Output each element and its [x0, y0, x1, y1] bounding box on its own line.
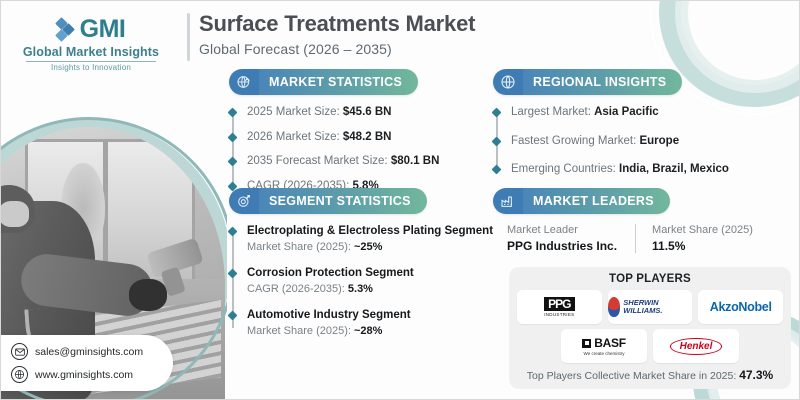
region-label: Largest Market: [511, 106, 594, 118]
section-market-statistics: MARKET STATISTICS 2025 Market Size: $45.… [229, 69, 439, 194]
stat-value: $80.1 BN [391, 155, 440, 167]
segment-metric-value: 5.3% [348, 283, 373, 295]
player-logo-sherwin-williams[interactable]: SHERWIN WILLIAMS. [608, 290, 693, 324]
logo-tagline: Insights to Innovation [15, 63, 167, 72]
bullet-icon [491, 108, 501, 118]
bullet-icon [227, 157, 237, 167]
list-item: Emerging Countries: India, Brazil, Mexic… [511, 162, 729, 178]
contact-website-row[interactable]: www.gminsights.com [11, 366, 173, 383]
segment-title: Automotive Industry Segment [247, 308, 493, 323]
contact-website: www.gminsights.com [35, 369, 133, 381]
page-title: Surface Treatments Market [199, 11, 475, 37]
bullet-icon [227, 108, 237, 118]
logo-company-name: Global Market Insights [15, 45, 167, 59]
sherwin-williams-logo-name: SHERWIN WILLIAMS. [623, 299, 692, 315]
bullet-icon [491, 136, 501, 146]
envelope-icon [11, 343, 28, 360]
regional-insights-list: Largest Market: Asia Pacific Fastest Gro… [493, 105, 729, 178]
regional-insights-heading: REGIONAL INSIGHTS [523, 69, 682, 95]
list-item: 2025 Market Size: $45.6 BN [247, 105, 439, 121]
market-leader-label: Market Leader [507, 224, 617, 236]
contact-footer: sales@gminsights.com www.gminsights.com [1, 335, 173, 391]
market-share-value: 11.5% [652, 239, 753, 253]
bullet-icon [227, 310, 237, 320]
list-item: 2035 Forecast Market Size: $80.1 BN [247, 154, 439, 170]
region-value: Asia Pacific [594, 106, 659, 118]
region-value: India, Brazil, Mexico [619, 163, 729, 175]
top-players-title: TOP PLAYERS [517, 273, 783, 285]
region-value: Europe [639, 135, 679, 147]
market-leader-value: PPG Industries Inc. [507, 239, 617, 253]
bullet-icon [227, 268, 237, 278]
list-item: Corrosion Protection Segment CAGR (2026-… [247, 266, 493, 295]
stat-label: 2035 Forecast Market Size: [247, 155, 391, 167]
section-market-leaders: MARKET LEADERS Market Leader PPG Industr… [493, 188, 771, 253]
bullet-icon [227, 132, 237, 142]
gmi-logo[interactable]: GMI Global Market Insights Insights to I… [15, 15, 167, 72]
photo-worker-mask [1, 201, 29, 227]
segment-title: Corrosion Protection Segment [247, 266, 493, 281]
bullet-icon [491, 165, 501, 175]
market-share-column: Market Share (2025) 11.5% [635, 224, 771, 253]
segment-metric-label: Market Share (2025): [247, 241, 354, 253]
logo-divider [26, 61, 156, 62]
collective-share-value: 47.3% [739, 368, 773, 382]
market-leaders-heading: MARKET LEADERS [523, 188, 670, 214]
segment-statistics-list: Electroplating & Electroless Plating Seg… [229, 224, 493, 337]
basf-square-icon [582, 339, 591, 348]
sherwin-williams-paint-icon [608, 297, 621, 317]
diamond-icon [57, 17, 77, 43]
target-chart-icon [229, 188, 259, 214]
market-statistics-heading: MARKET STATISTICS [259, 69, 418, 95]
page-subtitle: Global Forecast (2026 – 2035) [199, 41, 475, 57]
title-separator [187, 13, 190, 61]
segment-statistics-badge: SEGMENT STATISTICS [229, 188, 427, 214]
list-item: Electroplating & Electroless Plating Seg… [247, 224, 493, 253]
player-logo-akzonobel[interactable]: AkzoNobel [698, 290, 783, 324]
infographic-root: GMI Global Market Insights Insights to I… [0, 0, 800, 400]
market-leaders-badge: MARKET LEADERS [493, 188, 670, 214]
player-logo-henkel[interactable]: Henkel [653, 329, 739, 363]
list-item: 2026 Market Size: $48.2 BN [247, 130, 439, 146]
market-leader-details: Market Leader PPG Industries Inc. Market… [493, 224, 771, 253]
market-share-label: Market Share (2025) [652, 224, 753, 236]
region-label: Emerging Countries: [511, 163, 619, 175]
globe-chart-icon [229, 69, 259, 95]
region-label: Fastest Growing Market: [511, 135, 639, 147]
section-segment-statistics: SEGMENT STATISTICS Electroplating & Elec… [229, 188, 493, 337]
market-statistics-list: 2025 Market Size: $45.6 BN 2026 Market S… [229, 105, 439, 194]
bullet-icon [227, 227, 237, 237]
contact-email-row[interactable]: sales@gminsights.com [11, 343, 173, 360]
stat-label: 2025 Market Size: [247, 106, 343, 118]
list-item: Largest Market: Asia Pacific [511, 105, 729, 121]
stat-value: $48.2 BN [343, 131, 392, 143]
player-logo-ppg[interactable]: PPG INDUSTRIES [517, 290, 602, 324]
market-leader-column: Market Leader PPG Industries Inc. [507, 224, 635, 253]
section-regional-insights: REGIONAL INSIGHTS Largest Market: Asia P… [493, 69, 729, 178]
globe-icon [11, 366, 28, 383]
contact-email: sales@gminsights.com [35, 346, 143, 358]
segment-metric-label: CAGR (2026-2035): [247, 283, 348, 295]
segment-statistics-heading: SEGMENT STATISTICS [259, 188, 427, 214]
basf-logo-name: BASF [594, 336, 625, 350]
segment-metric-value: ~28% [354, 325, 382, 337]
globe-icon [493, 69, 523, 95]
basf-logo-sub: We create chemistry [584, 351, 625, 356]
list-item: Automotive Industry Segment Market Share… [247, 308, 493, 337]
player-logo-basf[interactable]: BASF We create chemistry [561, 329, 647, 363]
stat-label: 2026 Market Size: [247, 131, 343, 143]
top-players-card: TOP PLAYERS PPG INDUSTRIES SHERWIN WILLI… [509, 267, 791, 389]
list-item: Fastest Growing Market: Europe [511, 134, 729, 150]
segment-metric-label: Market Share (2025): [247, 325, 354, 337]
header-title-block: Surface Treatments Market Global Forecas… [199, 11, 475, 57]
ppg-logo-name: PPG [544, 297, 574, 312]
logo-initials: GMI [80, 15, 126, 44]
segment-title: Electroplating & Electroless Plating Seg… [247, 224, 493, 239]
regional-insights-badge: REGIONAL INSIGHTS [493, 69, 682, 95]
henkel-logo-name: Henkel [670, 338, 723, 355]
stat-value: $45.6 BN [343, 106, 392, 118]
segment-metric-value: ~25% [354, 241, 382, 253]
factory-icon [493, 188, 523, 214]
logo-mark: GMI [15, 15, 167, 44]
top-players-collective-share: Top Players Collective Market Share in 2… [517, 368, 783, 382]
market-statistics-badge: MARKET STATISTICS [229, 69, 418, 95]
akzonobel-logo-name: AkzoNobel [710, 300, 772, 314]
top-players-row-2: BASF We create chemistry Henkel [517, 329, 783, 363]
top-players-row-1: PPG INDUSTRIES SHERWIN WILLIAMS. AkzoNob… [517, 290, 783, 324]
ppg-logo-sub: INDUSTRIES [544, 312, 574, 317]
collective-share-label: Top Players Collective Market Share in 2… [527, 370, 739, 382]
